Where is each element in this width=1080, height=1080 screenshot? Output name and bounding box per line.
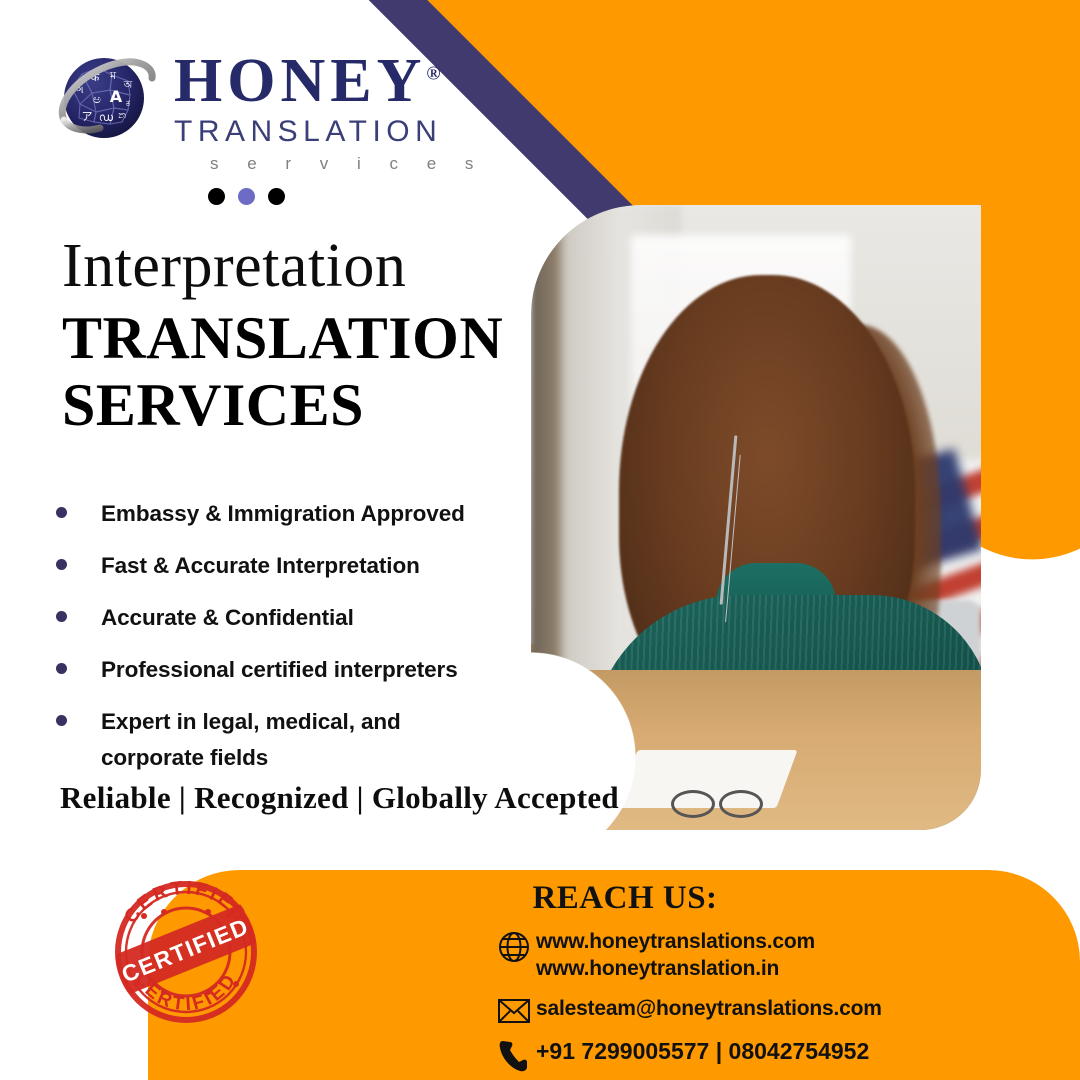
logo-subline: TRANSLATION xyxy=(174,117,485,147)
list-item-label: Accurate & Confidential xyxy=(101,600,354,636)
contact-heading: REACH US: xyxy=(0,880,1080,917)
decorative-dots xyxy=(208,188,285,205)
svg-text:න: න xyxy=(118,110,126,121)
svg-text:ম: ম xyxy=(109,69,117,82)
svg-text:ಅ: ಅ xyxy=(93,92,101,106)
website-values[interactable]: www.honeytranslations.com www.honeytrans… xyxy=(536,928,815,983)
contact-row-website[interactable]: www.honeytranslations.com www.honeytrans… xyxy=(492,928,882,983)
email-value[interactable]: salesteam@honeytranslations.com xyxy=(536,995,882,1022)
list-item-label: Embassy & Immigration Approved xyxy=(101,496,465,532)
contact-row-phone[interactable]: +91 7299005577 | 08042754952 xyxy=(492,1037,882,1073)
bullet-icon xyxy=(56,559,67,570)
list-item-label: Expert in legal, medical, and corporate … xyxy=(101,704,441,776)
globe-icon xyxy=(492,928,536,964)
website-1[interactable]: www.honeytranslations.com xyxy=(536,930,815,953)
contact-row-email[interactable]: salesteam@honeytranslations.com xyxy=(492,995,882,1025)
svg-text:ಕ: ಕ xyxy=(126,98,131,109)
logo-name: HONEY xyxy=(174,47,426,115)
logo-wordmark: HONEY® xyxy=(174,52,485,111)
dot-1 xyxy=(208,188,225,205)
hero-photo xyxy=(531,205,981,830)
registered-mark: ® xyxy=(426,63,440,84)
headline-script: Interpretation xyxy=(62,234,503,299)
bullet-icon xyxy=(56,663,67,674)
dot-3 xyxy=(268,188,285,205)
bullet-icon xyxy=(56,507,67,518)
brand-logo[interactable]: क ম অ ગ ಅ A ಕ ア ഡ න HONEY® TRANSLATION s… xyxy=(52,44,485,172)
poster-canvas: क ম অ ગ ಅ A ಕ ア ഡ න HONEY® TRANSLATION s… xyxy=(0,0,1080,1080)
list-item: Professional certified interpreters xyxy=(56,652,526,688)
list-item-label: Professional certified interpreters xyxy=(101,652,458,688)
bullet-icon xyxy=(56,611,67,622)
list-item: Accurate & Confidential xyxy=(56,600,526,636)
globe-languages-icon: क ম অ ગ ಅ A ಕ ア ഡ න xyxy=(52,48,160,156)
svg-text:ഡ: ഡ xyxy=(99,111,114,124)
headline-bold-1: TRANSLATION xyxy=(62,305,503,372)
list-item: Fast & Accurate Interpretation xyxy=(56,548,526,584)
page-title: Interpretation TRANSLATION SERVICES xyxy=(62,234,503,439)
logo-services-line: s e r v i c e s xyxy=(174,155,485,172)
bullet-icon xyxy=(56,715,67,726)
envelope-icon xyxy=(492,995,536,1025)
list-item-label: Fast & Accurate Interpretation xyxy=(101,548,420,584)
dot-2 xyxy=(238,188,255,205)
headline-bold-2: SERVICES xyxy=(62,372,503,439)
phone-values[interactable]: +91 7299005577 | 08042754952 xyxy=(536,1037,869,1067)
list-item: Expert in legal, medical, and corporate … xyxy=(56,704,526,776)
contact-details: www.honeytranslations.com www.honeytrans… xyxy=(492,928,882,1080)
svg-text:A: A xyxy=(110,87,123,106)
feature-list: Embassy & Immigration Approved Fast & Ac… xyxy=(56,496,526,792)
svg-text:ア: ア xyxy=(82,110,93,123)
list-item: Embassy & Immigration Approved xyxy=(56,496,526,532)
glasses-on-desk xyxy=(671,790,781,822)
tagline: Reliable | Recognized | Globally Accepte… xyxy=(60,780,619,816)
svg-text:অ: অ xyxy=(123,80,133,91)
website-2[interactable]: www.honeytranslation.in xyxy=(536,957,779,980)
phone-icon xyxy=(492,1037,536,1073)
